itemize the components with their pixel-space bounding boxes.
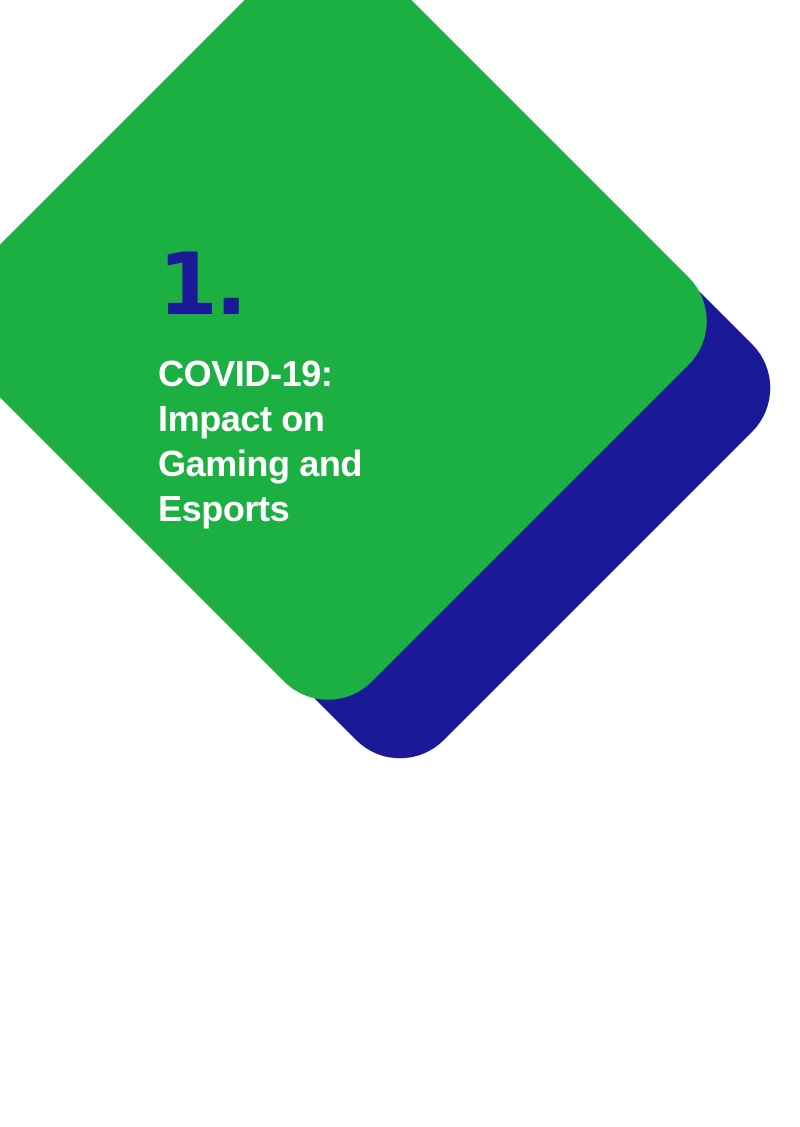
page-title: COVID-19: Impact on Gaming and Esports bbox=[158, 351, 458, 531]
title-line-4: Esports bbox=[158, 486, 458, 531]
cover-content: 1. COVID-19: Impact on Gaming and Esport… bbox=[158, 246, 458, 531]
title-line-1: COVID-19: bbox=[158, 351, 458, 396]
title-line-3: Gaming and bbox=[158, 441, 458, 486]
title-line-2: Impact on bbox=[158, 396, 458, 441]
section-cover-page: 1. COVID-19: Impact on Gaming and Esport… bbox=[0, 0, 800, 1127]
decorative-shapes bbox=[0, 0, 800, 1127]
section-number: 1. bbox=[158, 246, 458, 325]
